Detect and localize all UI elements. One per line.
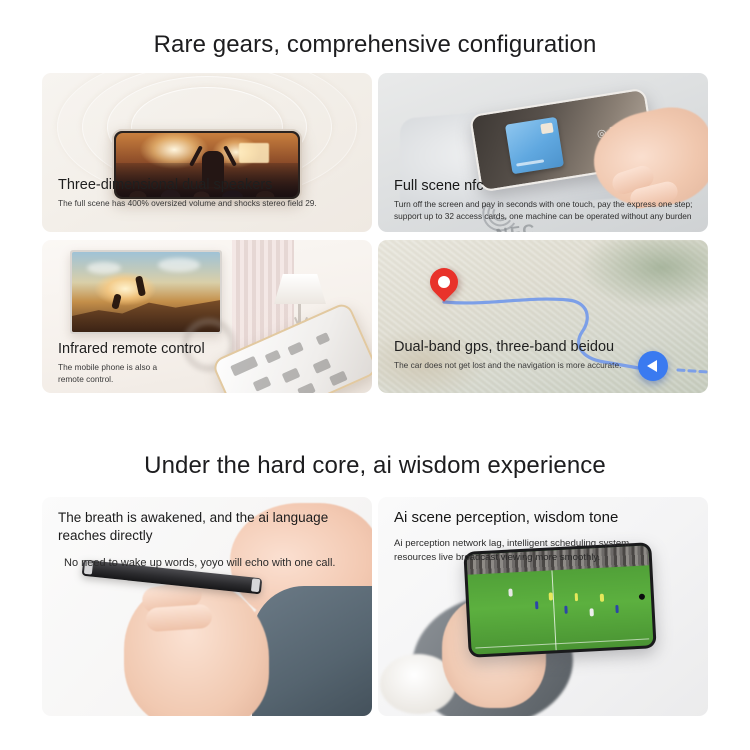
floor-lamp-shade <box>274 274 326 304</box>
payment-card-ui <box>505 117 564 175</box>
card-subtitle: No need to wake up words, yoyo will echo… <box>58 556 360 572</box>
nfc-copy: Full scene nfc Turn off the screen and p… <box>394 177 696 223</box>
card-title: Three-dimensional dual speakers <box>58 176 360 194</box>
card-title: The breath is awakened, and the ai langu… <box>58 509 360 545</box>
card-subtitle: Ai perception network lag, intelligent s… <box>394 537 644 565</box>
feature-card-gps[interactable]: Dual-band gps, three-band beidou The car… <box>378 240 708 393</box>
section-title-rare-gears: Rare gears, comprehensive configuration <box>0 31 750 59</box>
card-subtitle: The car does not get lost and the naviga… <box>394 360 696 372</box>
person-shirt <box>252 586 372 716</box>
section-title-hard-core: Under the hard core, ai wisdom experienc… <box>0 452 750 480</box>
gps-copy: Dual-band gps, three-band beidou The car… <box>394 338 696 372</box>
promo-page: Rare gears, comprehensive configuration … <box>0 0 750 750</box>
card-subtitle: The mobile phone is also a remote contro… <box>58 362 178 386</box>
card-subtitle: Turn off the screen and pay in seconds w… <box>394 199 696 223</box>
feature-card-nfc[interactable]: NFC ◎ ☰ Full scene nfc Turn off the scre… <box>378 73 708 232</box>
feature-card-speakers[interactable]: Three-dimensional dual speakers The full… <box>42 73 372 232</box>
card-subtitle: The full scene has 400% oversized volume… <box>58 198 360 210</box>
card-title: Infrared remote control <box>58 340 360 358</box>
breath-copy: The breath is awakened, and the ai langu… <box>58 509 360 572</box>
card-title: Ai scene perception, wisdom tone <box>394 509 696 528</box>
feature-card-ai-scene[interactable]: Ai scene perception, wisdom tone Ai perc… <box>378 497 708 716</box>
ai-scene-copy: Ai scene perception, wisdom tone Ai perc… <box>394 509 696 565</box>
feature-card-breath[interactable]: The breath is awakened, and the ai langu… <box>42 497 372 716</box>
card-title: Full scene nfc <box>394 177 696 195</box>
speakers-copy: Three-dimensional dual speakers The full… <box>58 176 360 210</box>
feature-card-infrared[interactable]: Infrared remote control The mobile phone… <box>42 240 372 393</box>
infrared-copy: Infrared remote control The mobile phone… <box>58 340 360 386</box>
card-title: Dual-band gps, three-band beidou <box>394 338 696 356</box>
